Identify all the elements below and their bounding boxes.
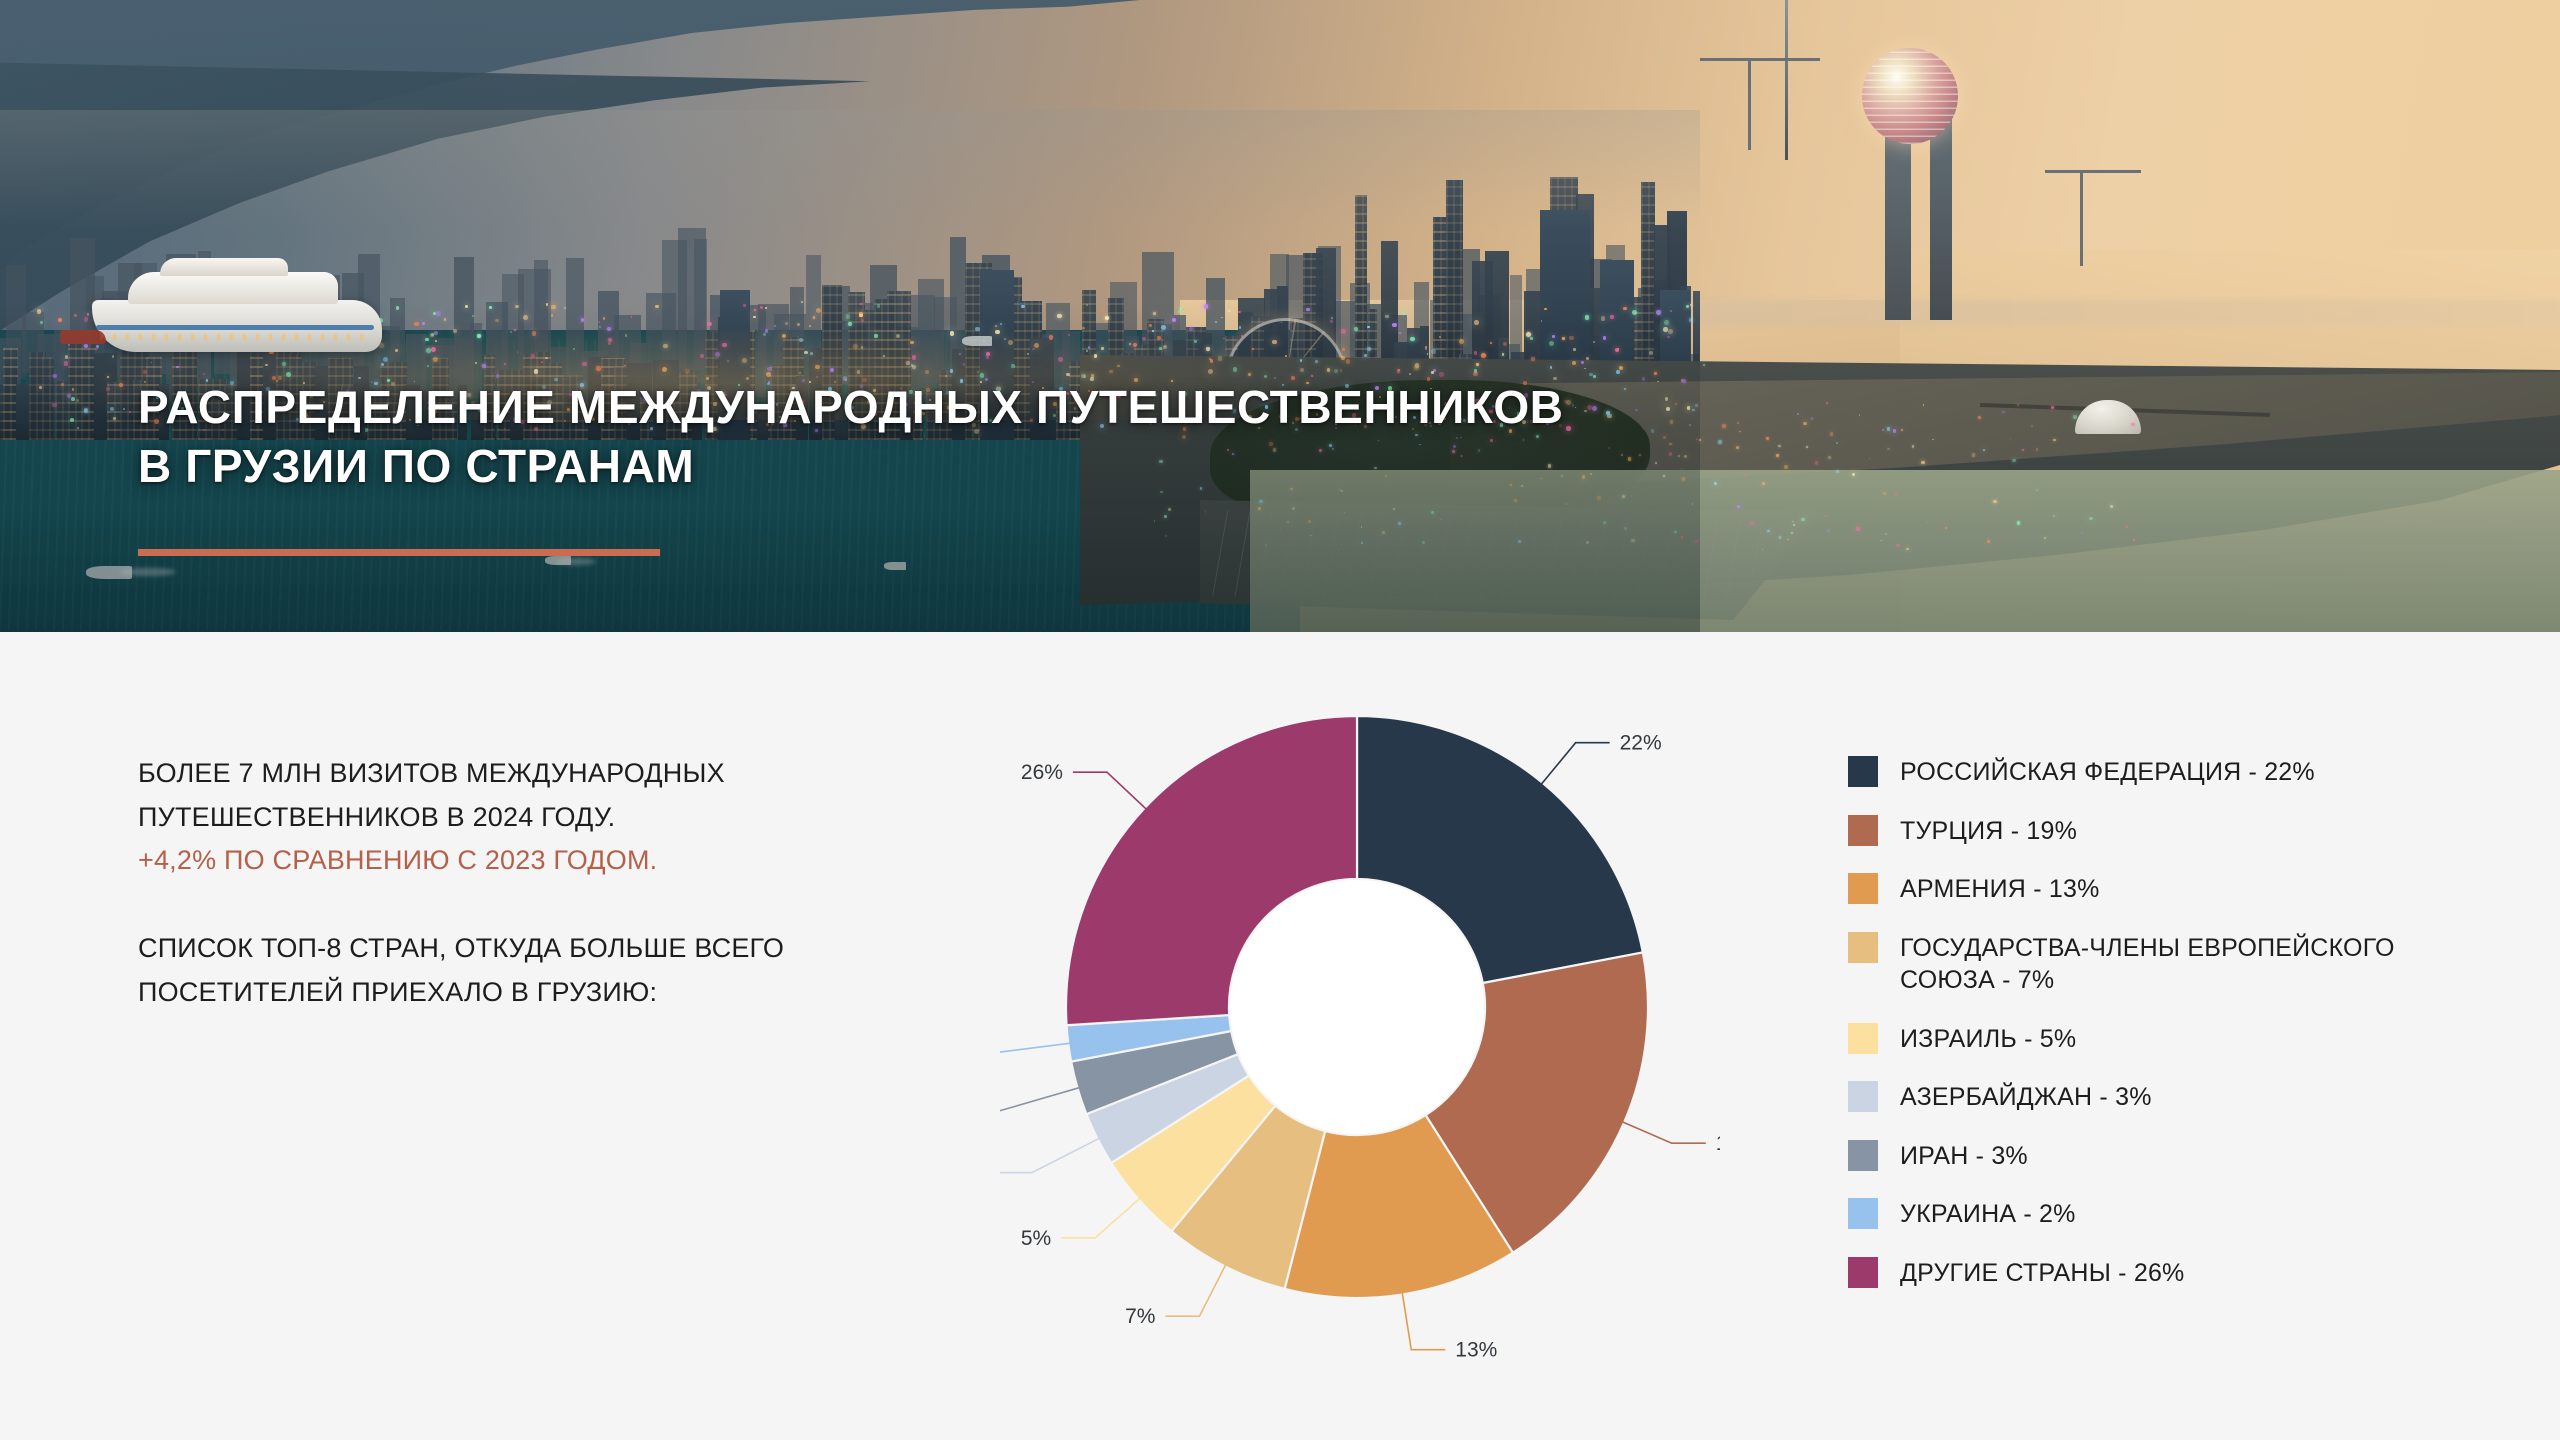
legend-item[interactable]: ГОСУДАРСТВА-ЧЛЕНЫ ЕВРОПЕЙСКОГО СОЮЗА - 7… [1848,930,2488,997]
page-title: РАСПРЕДЕЛЕНИЕ МЕЖДУНАРОДНЫХ ПУТЕШЕСТВЕНН… [138,378,1858,496]
boat-wake-1 [120,568,176,576]
construction-crane-2 [2045,170,2141,173]
intro-line-4: СПИСОК ТОП-8 СТРАН, ОТКУДА БОЛЬШЕ ВСЕГО [138,927,928,971]
construction-crane-1 [1700,58,1820,61]
legend-color-swatch [1848,1257,1878,1288]
donut-value-label: 7% [1125,1305,1155,1328]
legend-item[interactable]: АРМЕНИЯ - 13% [1848,871,2488,906]
tugboat [60,330,106,344]
alphabetic-tower-sphere [1862,48,1958,144]
legend-color-swatch [1848,1023,1878,1054]
donut-leader-line [1061,1197,1142,1238]
legend-color-swatch [1848,756,1878,787]
content-area: БОЛЕЕ 7 МЛН ВИЗИТОВ МЕЖДУНАРОДНЫХ ПУТЕШЕ… [0,632,2560,1440]
boat-wake-2 [556,558,596,565]
legend-item-label: ИЗРАИЛЬ - 5% [1900,1021,2076,1056]
donut-leader-line [1000,1087,1081,1112]
construction-crane-2-mast [2080,170,2083,266]
cruise-ship-lights [100,334,370,340]
donut-leader-line [1620,1121,1705,1143]
legend-item-label: РОССИЙСКАЯ ФЕДЕРАЦИЯ - 22% [1900,754,2315,789]
construction-crane-1-mast [1748,58,1751,150]
intro-text-block: БОЛЕЕ 7 МЛН ВИЗИТОВ МЕЖДУНАРОДНЫХ ПУТЕШЕ… [138,752,928,1015]
donut-leader-line [1000,1137,1101,1172]
chart-legend: РОССИЙСКАЯ ФЕДЕРАЦИЯ - 22%ТУРЦИЯ - 19%АР… [1848,754,2488,1289]
batumi-aerial-photo [0,0,2560,632]
donut-leader-line [1000,1043,1072,1056]
legend-item[interactable]: УКРАИНА - 2% [1848,1196,2488,1231]
donut-chart: 22%19%13%7%5%3%3%2%26% [1000,702,1720,1382]
donut-value-label: 22% [1620,732,1662,755]
hero-banner: РАСПРЕДЕЛЕНИЕ МЕЖДУНАРОДНЫХ ПУТЕШЕСТВЕНН… [0,0,2560,632]
donut-value-label: 13% [1455,1339,1497,1362]
legend-item[interactable]: ИЗРАИЛЬ - 5% [1848,1021,2488,1056]
legend-item[interactable]: ИРАН - 3% [1848,1138,2488,1173]
intro-growth-line: +4,2% ПО СРАВНЕНИЮ С 2023 ГОДОМ. [138,839,928,883]
legend-item[interactable]: РОССИЙСКАЯ ФЕДЕРАЦИЯ - 22% [1848,754,2488,789]
donut-leader-line [1402,1290,1445,1349]
legend-item-label: ДРУГИЕ СТРАНЫ - 26% [1900,1255,2184,1290]
cruise-ship-upper-deck [160,258,288,276]
building-windows [42,357,54,440]
intro-line-1: БОЛЕЕ 7 МЛН ВИЗИТОВ МЕЖДУНАРОДНЫХ [138,752,928,796]
legend-color-swatch [1848,815,1878,846]
donut-leader-line [1540,743,1610,786]
legend-item-label: ИРАН - 3% [1900,1138,2028,1173]
intro-line-5: ПОСЕТИТЕЛЕЙ ПРИЕХАЛО В ГРУЗИЮ: [138,971,928,1015]
cruise-ship-stripe [96,325,374,330]
donut-center-hole [1230,880,1484,1134]
legend-item-label: АЗЕРБАЙДЖАН - 3% [1900,1079,2152,1114]
title-accent-rule [138,549,660,556]
donut-value-label: 19% [1716,1132,1720,1155]
donut-leader-line [1165,1263,1226,1316]
legend-item-label: ТУРЦИЯ - 19% [1900,813,2077,848]
small-boat-4 [962,336,992,346]
legend-color-swatch [1848,1140,1878,1171]
donut-value-label: 26% [1021,761,1063,784]
legend-item-label: УКРАИНА - 2% [1900,1196,2076,1231]
donut-leader-line [1073,772,1148,810]
small-boat-3 [884,562,906,570]
donut-value-label: 5% [1021,1227,1051,1250]
legend-item[interactable]: АЗЕРБАЙДЖАН - 3% [1848,1079,2488,1114]
cruise-ship-superstructure [128,272,338,304]
intro-line-2: ПУТЕШЕСТВЕННИКОВ В 2024 ГОДУ. [138,796,928,840]
legend-color-swatch [1848,873,1878,904]
legend-color-swatch [1848,1198,1878,1229]
legend-item-label: ГОСУДАРСТВА-ЧЛЕНЫ ЕВРОПЕЙСКОГО СОЮЗА - 7… [1900,930,2488,997]
legend-item[interactable]: ДРУГИЕ СТРАНЫ - 26% [1848,1255,2488,1290]
legend-color-swatch [1848,1081,1878,1112]
legend-item-label: АРМЕНИЯ - 13% [1900,871,2100,906]
legend-item[interactable]: ТУРЦИЯ - 19% [1848,813,2488,848]
tv-spire [1785,0,1788,160]
legend-color-swatch [1848,932,1878,963]
donut-chart-svg: 22%19%13%7%5%3%3%2%26% [1000,702,1720,1382]
